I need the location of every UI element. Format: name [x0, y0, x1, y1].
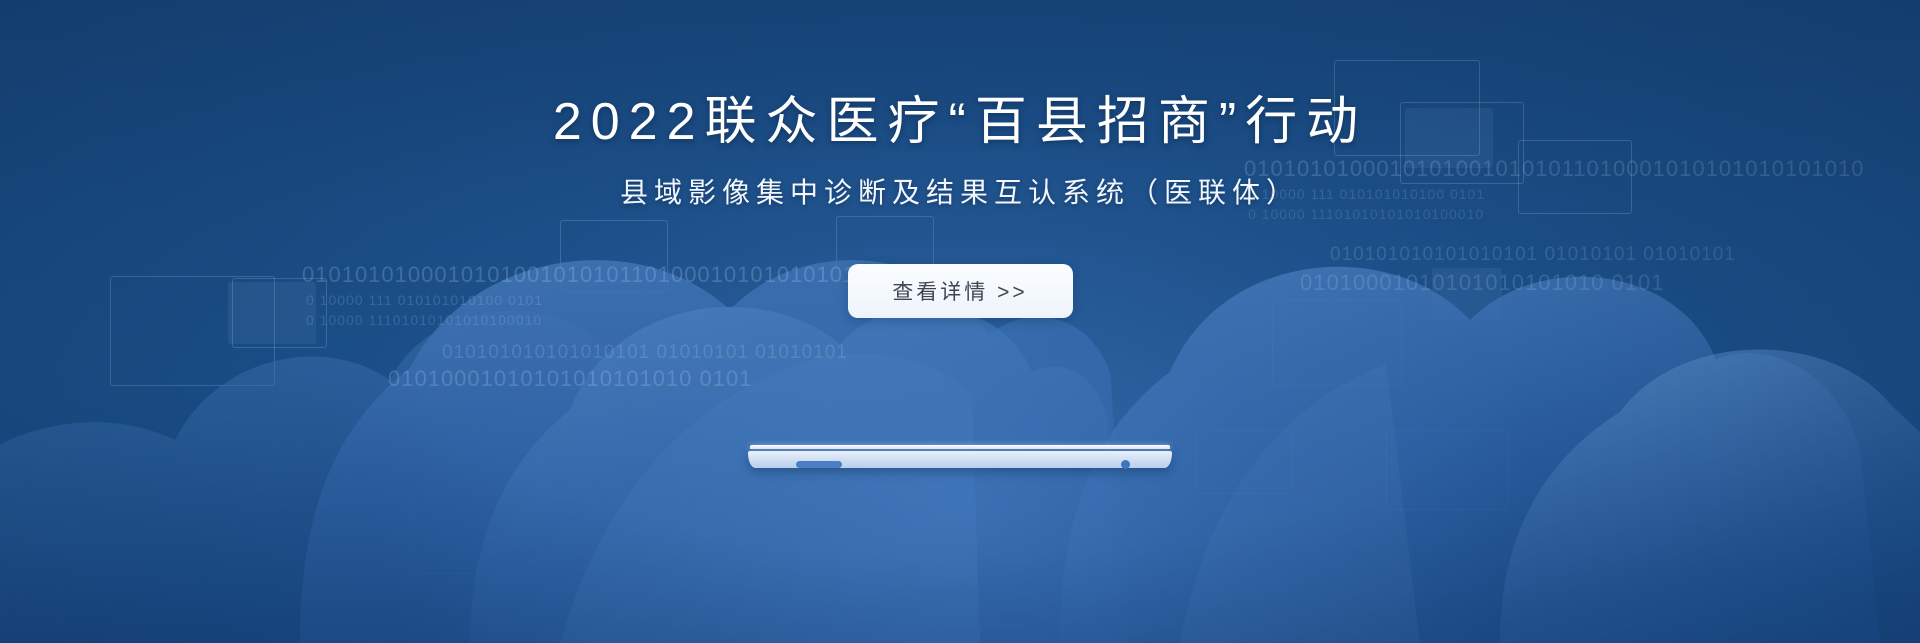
camera-dot-icon [1121, 460, 1130, 469]
cta-container: 查看详情 >> [0, 264, 1920, 318]
speaker-grille-icon [796, 461, 842, 468]
laptop-base-icon [748, 445, 1172, 475]
laptop-screen-edge [750, 445, 1170, 449]
laptop-body [748, 451, 1172, 468]
page-subtitle: 县域影像集中诊断及结果互认系统（医联体） [0, 153, 1920, 211]
banner-content: 2022联众医疗“百县招商”行动 县域影像集中诊断及结果互认系统（医联体） 查看… [0, 0, 1920, 318]
view-details-button[interactable]: 查看详情 >> [848, 264, 1073, 318]
page-title: 2022联众医疗“百县招商”行动 [0, 0, 1920, 153]
promo-banner: 0101010100010101001010101101000101010101… [0, 0, 1920, 643]
